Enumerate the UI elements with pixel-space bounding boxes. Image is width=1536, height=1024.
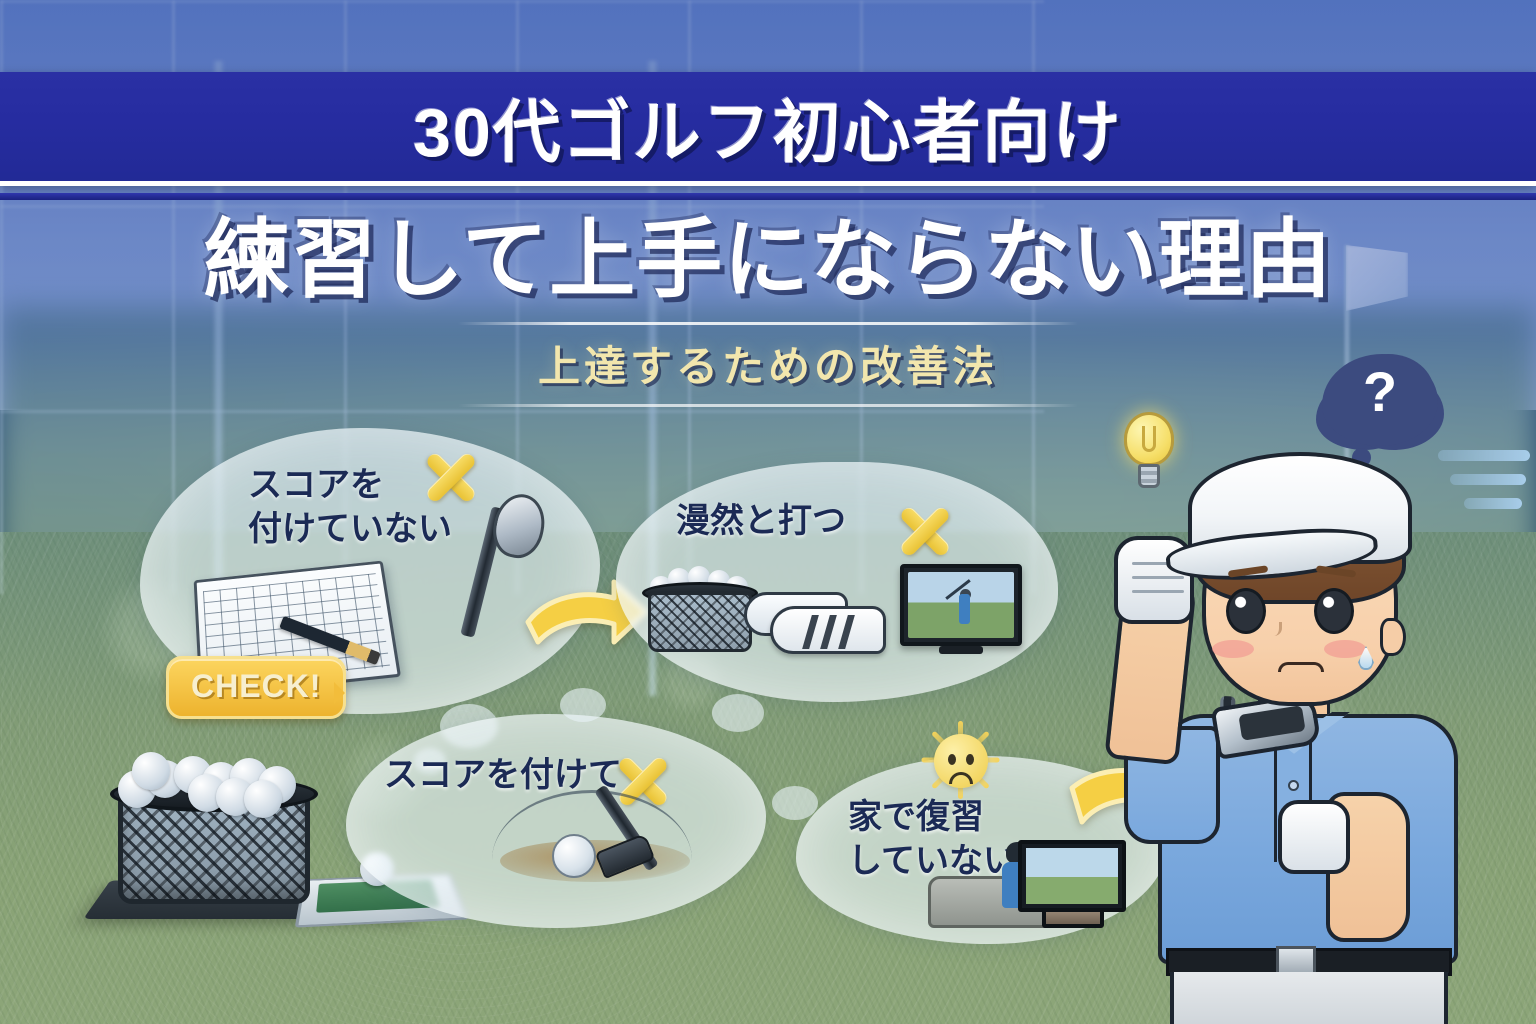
eye [1314, 588, 1354, 634]
thumbnail-canvas: 30代ゴルフ初心者向け 練習して上手にならない理由 上達するための改善法 スコア… [0, 0, 1536, 1024]
header-banner: 30代ゴルフ初心者向け [0, 72, 1536, 186]
ball-basket-icon [648, 592, 752, 652]
shirt-button [1288, 780, 1299, 791]
title-divider-top [458, 322, 1078, 325]
golf-ball-pile [116, 756, 312, 808]
x-mark-icon [894, 500, 956, 562]
sweat-speed-lines-icon [1438, 444, 1534, 534]
gloved-hand-on-grip [1278, 800, 1350, 874]
bubble-tail [712, 694, 764, 732]
mouth [1278, 662, 1324, 672]
blush [1212, 640, 1254, 658]
bubble-label-aimless: 漫然と打つ [676, 500, 846, 544]
ear [1380, 618, 1406, 656]
page-title: 練習して上手にならない理由 [204, 212, 1332, 308]
television-icon [900, 564, 1022, 646]
banner-title: 30代ゴルフ初心者向け [413, 77, 1123, 176]
confused-golfer-character [1062, 396, 1536, 1024]
x-mark-icon [420, 446, 482, 508]
check-badge: CHECK! [166, 656, 346, 719]
golf-ball-icon [552, 834, 596, 878]
trousers [1170, 972, 1448, 1024]
blush [1324, 640, 1366, 658]
bubble-tail [772, 786, 818, 820]
title-divider-bottom [458, 404, 1078, 407]
title-block: 練習して上手にならない理由 上達するための改善法 [0, 212, 1536, 407]
golf-shoe-icon [770, 606, 886, 654]
page-subtitle: 上達するための改善法 [538, 333, 998, 394]
eye [1226, 588, 1266, 634]
sad-sun-icon [924, 724, 996, 796]
bubble-tail [560, 688, 606, 722]
banner-underline [0, 193, 1536, 200]
